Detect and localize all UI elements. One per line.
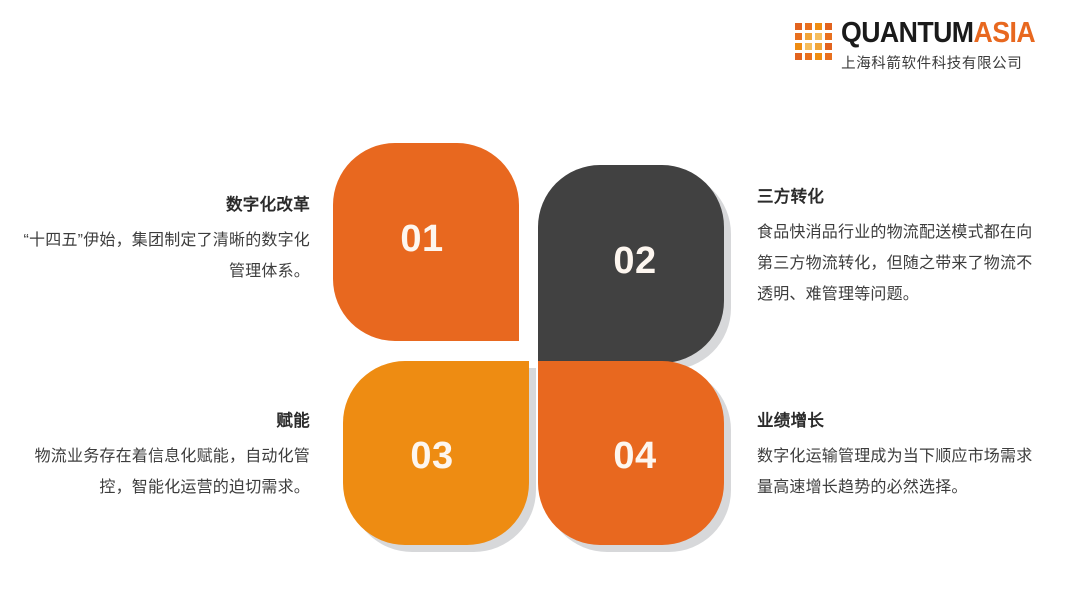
logo-grid-cell-15 bbox=[815, 53, 822, 60]
logo-grid-squares bbox=[795, 23, 832, 60]
logo-grid-cell-8 bbox=[825, 33, 832, 40]
section-text-04: 业绩增长 数字化运输管理成为当下顺应市场需求量高速增长趋势的必然选择。 bbox=[757, 408, 1047, 503]
logo-grid-cell-13 bbox=[795, 53, 802, 60]
section-text-03: 赋能 物流业务存在着信息化赋能，自动化管控，智能化运营的迫切需求。 bbox=[20, 408, 310, 503]
section-01-title: 数字化改革 bbox=[20, 192, 310, 218]
petal-02[interactable]: 02 bbox=[538, 165, 724, 363]
petal-03[interactable]: 03 bbox=[343, 361, 529, 545]
logo-grid-cell-7 bbox=[815, 33, 822, 40]
petal-01-number: 01 bbox=[400, 218, 443, 261]
petal-04-number: 04 bbox=[613, 435, 656, 478]
logo-word-primary: QUANTUM bbox=[841, 17, 973, 49]
petal-03-number: 03 bbox=[410, 435, 453, 478]
logo-grid-cell-12 bbox=[825, 43, 832, 50]
petal-04[interactable]: 04 bbox=[538, 361, 724, 545]
section-text-02: 三方转化 食品快消品行业的物流配送模式都在向第三方物流转化，但随之带来了物流不透… bbox=[757, 184, 1047, 310]
logo-grid-cell-2 bbox=[805, 23, 812, 30]
section-04-body: 数字化运输管理成为当下顺应市场需求量高速增长趋势的必然选择。 bbox=[757, 441, 1047, 503]
logo-grid-cell-10 bbox=[805, 43, 812, 50]
logo-text: QUANTUMASIA 上海科箭软件科技有限公司 bbox=[841, 18, 1052, 73]
logo-subtitle: 上海科箭软件科技有限公司 bbox=[841, 52, 1022, 73]
section-04-title: 业绩增长 bbox=[757, 408, 1047, 434]
quadrant-petal-graphic: 01 02 03 04 bbox=[333, 143, 723, 545]
section-02-title: 三方转化 bbox=[757, 184, 1047, 210]
logo-grid-cell-3 bbox=[815, 23, 822, 30]
logo-grid-cell-11 bbox=[815, 43, 822, 50]
petal-02-number: 02 bbox=[613, 240, 656, 283]
logo-grid-cell-14 bbox=[805, 53, 812, 60]
section-01-body: “十四五”伊始，集团制定了清晰的数字化管理体系。 bbox=[20, 225, 310, 287]
section-03-body: 物流业务存在着信息化赋能，自动化管控，智能化运营的迫切需求。 bbox=[20, 441, 310, 503]
logo-grid-cell-4 bbox=[825, 23, 832, 30]
logo-wordmark: QUANTUMASIA bbox=[841, 18, 1035, 48]
logo-grid-cell-6 bbox=[805, 33, 812, 40]
logo-grid-cell-1 bbox=[795, 23, 802, 30]
company-logo: QUANTUMASIA 上海科箭软件科技有限公司 bbox=[795, 18, 1052, 73]
logo-word-accent: ASIA bbox=[974, 17, 1036, 49]
logo-grid-cell-16 bbox=[825, 53, 832, 60]
petal-01[interactable]: 01 bbox=[333, 143, 519, 341]
slide-canvas: QUANTUMASIA 上海科箭软件科技有限公司 01 02 03 04 数字化… bbox=[0, 0, 1080, 592]
section-03-title: 赋能 bbox=[20, 408, 310, 434]
section-text-01: 数字化改革 “十四五”伊始，集团制定了清晰的数字化管理体系。 bbox=[20, 192, 310, 287]
logo-grid-cell-5 bbox=[795, 33, 802, 40]
section-02-body: 食品快消品行业的物流配送模式都在向第三方物流转化，但随之带来了物流不透明、难管理… bbox=[757, 217, 1047, 310]
logo-grid-cell-9 bbox=[795, 43, 802, 50]
